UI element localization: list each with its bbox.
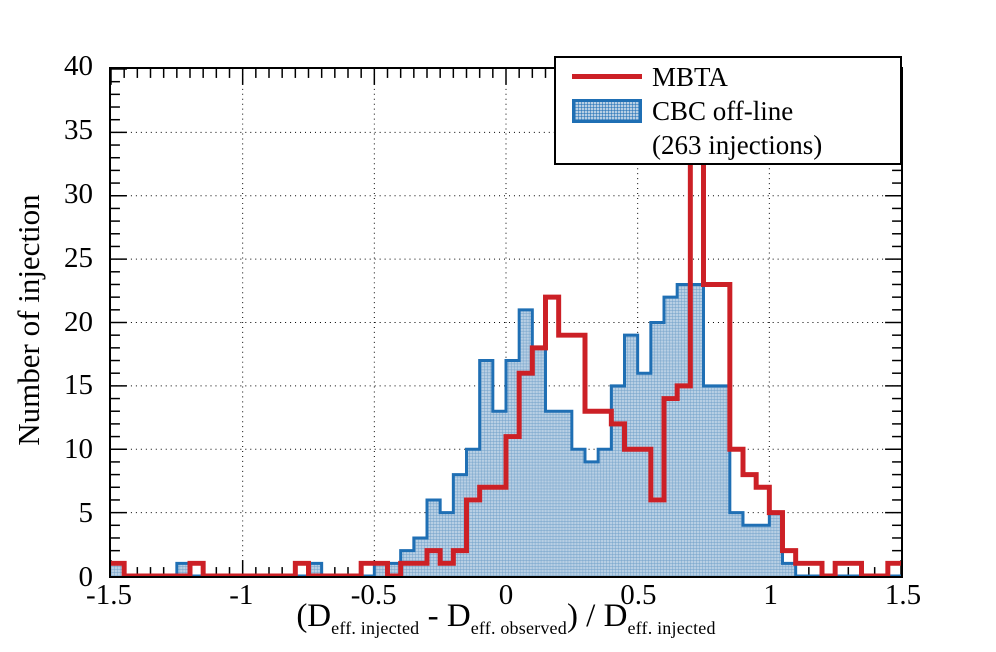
- y-tick-label: 25: [33, 244, 93, 273]
- y-tick-label: 10: [33, 435, 93, 464]
- legend-entry-mbta: MBTA: [556, 60, 900, 94]
- chart-canvas: Number of injection 0510152025303540 -1.…: [0, 0, 996, 652]
- xtitle-sub1: eff. injected: [331, 618, 419, 638]
- x-axis-title: (Deff. injected - Deff. observed) / Deff…: [109, 598, 903, 639]
- xtitle-close: ) / D: [567, 598, 628, 634]
- legend-key-box-icon: [570, 94, 644, 128]
- legend-label-mbta: MBTA: [652, 60, 728, 94]
- xtitle-sub3: eff. injected: [627, 618, 715, 638]
- y-tick-label: 40: [33, 52, 93, 81]
- y-tick-label: 30: [33, 180, 93, 209]
- legend-label-injections: (263 injections): [652, 128, 822, 162]
- xtitle-open: (D: [296, 598, 331, 634]
- y-tick-label: 20: [33, 308, 93, 337]
- xtitle-sub2: eff. observed: [471, 618, 567, 638]
- legend-entry-count: (263 injections): [556, 128, 900, 162]
- xtitle-minus: - D: [419, 598, 470, 634]
- y-tick-label: 15: [33, 371, 93, 400]
- legend-label-cbc: CBC off-line: [652, 94, 793, 128]
- y-tick-label: 5: [33, 499, 93, 528]
- legend-entry-cbc: CBC off-line: [556, 94, 900, 128]
- legend-key-line-icon: [570, 60, 644, 94]
- y-tick-label: 35: [33, 116, 93, 145]
- chart-legend: MBTA CBC off-line (263 injections): [554, 56, 902, 165]
